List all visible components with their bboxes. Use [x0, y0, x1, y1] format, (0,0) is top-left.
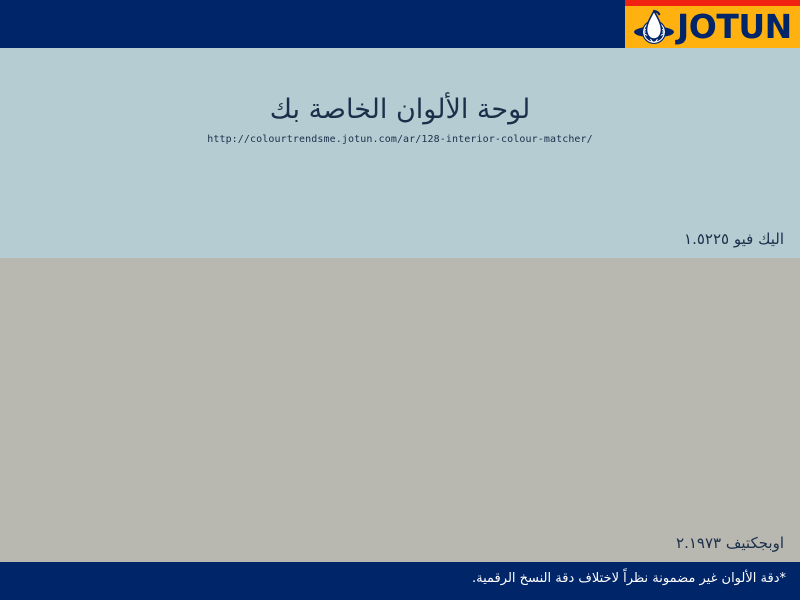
title-block: لوحة الألوان الخاصة بك http://colourtren… — [0, 92, 800, 145]
colour-swatch-label: اليك فيو ١.٥٢٢٥ — [684, 230, 784, 248]
jotun-drop-globe-logo-icon — [633, 8, 675, 46]
footer-bar: *دقة الألوان غير مضمونة نظراً لاختلاف دق… — [0, 562, 800, 600]
colour-swatch-label: اوبجكتيف ٢.١٩٧٣ — [676, 534, 784, 552]
palette-url[interactable]: http://colourtrendsme.jotun.com/ar/128-i… — [0, 134, 800, 145]
header-bar: JOTUN — [0, 0, 800, 48]
colour-swatch-panel: اليك فيو ١.٥٢٢٥ — [0, 48, 800, 258]
page-title: لوحة الألوان الخاصة بك — [0, 92, 800, 128]
colour-swatch-panel: اوبجكتيف ٢.١٩٧٣ — [0, 258, 800, 562]
colour-accuracy-disclaimer: *دقة الألوان غير مضمونة نظراً لاختلاف دق… — [472, 571, 786, 586]
jotun-logo[interactable]: JOTUN — [625, 0, 800, 48]
jotun-wordmark: JOTUN — [677, 6, 797, 48]
colour-palette-page: اليك فيو ١.٥٢٢٥ اوبجكتيف ٢.١٩٧٣ لوحة الأ… — [0, 0, 800, 600]
